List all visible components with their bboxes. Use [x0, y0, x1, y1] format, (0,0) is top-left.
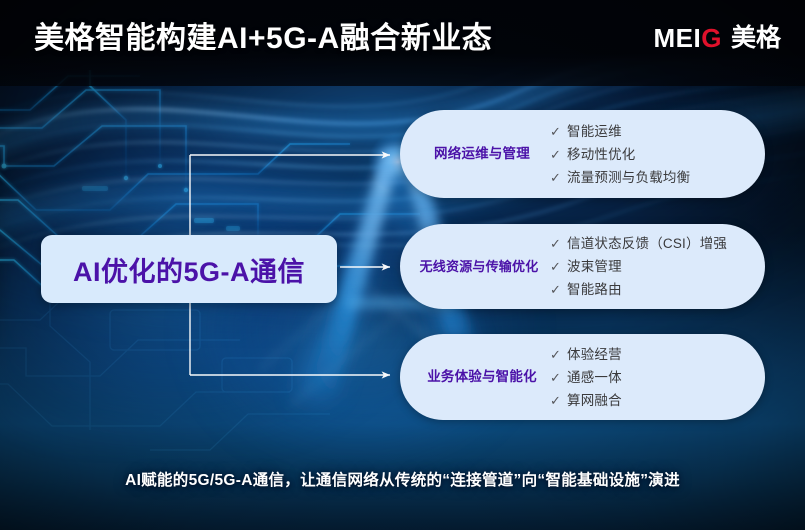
list-item: ✓ 通感一体 — [550, 368, 757, 387]
check-icon: ✓ — [550, 391, 567, 410]
footer-caption: AI赋能的5G/5G-A通信，让通信网络从传统的“连接管道”向“智能基础设施”演… — [0, 470, 805, 492]
list-item-label: 智能路由 — [567, 280, 622, 299]
slide-canvas: 美格智能构建AI+5G-A融合新业态 MEIG 美格 AI优化的5G-A通信 网… — [0, 0, 805, 530]
check-icon: ✓ — [550, 257, 567, 276]
check-icon: ✓ — [550, 280, 567, 299]
main-concept-box[interactable]: AI优化的5G-A通信 — [41, 235, 337, 303]
list-item-label: 信道状态反馈（CSI）增强 — [567, 234, 727, 253]
list-item: ✓ 体验经营 — [550, 345, 757, 364]
list-item-label: 波束管理 — [567, 257, 622, 276]
pillar-card-service-experience[interactable]: 业务体验与智能化 ✓ 体验经营 ✓ 通感一体 ✓ 算网融合 — [400, 334, 765, 420]
list-item: ✓ 移动性优化 — [550, 145, 757, 164]
logo-wordmark-text: MEI — [654, 23, 702, 53]
logo-g-accent: G — [701, 23, 722, 53]
pillar-card-network-ops[interactable]: 网络运维与管理 ✓ 智能运维 ✓ 移动性优化 ✓ 流量预测与负载均衡 — [400, 110, 765, 198]
list-item: ✓ 信道状态反馈（CSI）增强 — [550, 234, 757, 253]
logo-chinese-name: 美格 — [731, 23, 781, 53]
list-item: ✓ 智能路由 — [550, 280, 757, 299]
list-item: ✓ 流量预测与负载均衡 — [550, 168, 757, 187]
list-item-label: 通感一体 — [567, 368, 622, 387]
list-item-label: 移动性优化 — [567, 145, 636, 164]
card-title: 无线资源与传输优化 — [400, 258, 550, 276]
card-item-list: ✓ 智能运维 ✓ 移动性优化 ✓ 流量预测与负载均衡 — [550, 122, 765, 187]
check-icon: ✓ — [550, 234, 567, 253]
check-icon: ✓ — [550, 122, 567, 141]
pillar-card-radio-resource[interactable]: 无线资源与传输优化 ✓ 信道状态反馈（CSI）增强 ✓ 波束管理 ✓ 智能路由 — [400, 224, 765, 309]
main-concept-label: AI优化的5G-A通信 — [73, 250, 305, 289]
list-item: ✓ 智能运维 — [550, 122, 757, 141]
slide-header: 美格智能构建AI+5G-A融合新业态 MEIG 美格 — [0, 0, 805, 86]
brand-logo: MEIG 美格 — [654, 22, 781, 54]
card-title: 业务体验与智能化 — [400, 368, 550, 386]
card-title: 网络运维与管理 — [400, 145, 550, 163]
check-icon: ✓ — [550, 368, 567, 387]
check-icon: ✓ — [550, 145, 567, 164]
page-title: 美格智能构建AI+5G-A融合新业态 — [34, 19, 492, 59]
check-icon: ✓ — [550, 168, 567, 187]
list-item: ✓ 算网融合 — [550, 391, 757, 410]
list-item-label: 智能运维 — [567, 122, 622, 141]
list-item-label: 流量预测与负载均衡 — [567, 168, 690, 187]
card-item-list: ✓ 信道状态反馈（CSI）增强 ✓ 波束管理 ✓ 智能路由 — [550, 234, 765, 299]
logo-wordmark: MEIG — [654, 23, 722, 53]
check-icon: ✓ — [550, 345, 567, 364]
card-item-list: ✓ 体验经营 ✓ 通感一体 ✓ 算网融合 — [550, 345, 765, 410]
list-item-label: 算网融合 — [567, 391, 622, 410]
list-item: ✓ 波束管理 — [550, 257, 757, 276]
list-item-label: 体验经营 — [567, 345, 622, 364]
